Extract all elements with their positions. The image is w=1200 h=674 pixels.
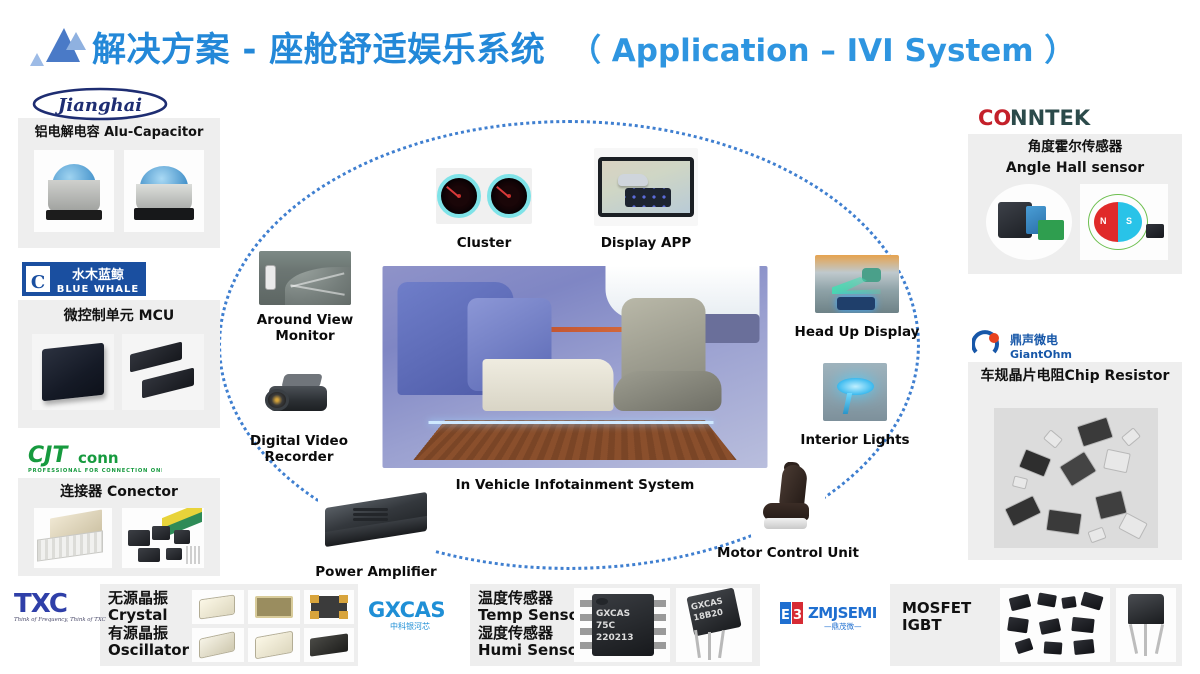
page-title-cn: 解决方案 - 座舱舒适娱乐系统 [92,22,545,71]
panel-conntek-title-en: Angle Hall sensor [968,160,1182,177]
zmsemi-logo: E 3 ZMJSEMI —鼎茂微— [780,598,896,632]
blue-whale-logo: C 水木蓝鲸 BLUE WHALE [22,262,146,296]
two-dark-ic-packages-thumb [122,334,204,410]
dashcam-device-image [258,370,340,424]
node-digital-video-recorder-label: Digital Video Recorder [239,434,359,465]
svg-text:水木蓝鲸: 水木蓝鲸 [72,267,124,283]
smd-crystal-1-thumb [192,590,244,624]
svg-text:—鼎茂微—: —鼎茂微— [824,621,862,631]
panel-jianghai-title: 铝电解电容 Alu-Capacitor [18,125,220,140]
svg-text:CJT: CJT [28,443,69,468]
gxcas-line-3: 湿度传感器 [478,625,579,642]
panel-cjt: 连接器 Conector [18,478,220,576]
panel-conntek: 角度霍尔传感器 Angle Hall sensor N S [968,134,1182,274]
gxcas-line-1: 温度传感器 [478,590,579,607]
zmsemi-lines: MOSFET IGBT [902,600,971,635]
interior-dome-light-image [823,363,887,421]
panel-giantohm-title: 车规晶片电阻Chip Resistor [968,368,1182,385]
slide-root: 解决方案 - 座舱舒适娱乐系统 （ Application – IVI Syst… [0,0,1200,674]
hall-sensor-motor-module-thumb [986,184,1072,260]
page-title-en: （ Application – IVI System ） [570,25,1075,70]
node-ivi-system[interactable]: In Vehicle Infotainment System [380,266,770,498]
svg-text:Think of Frequency, Think of T: Think of Frequency, Think of TXC [14,617,107,623]
jianghai-logo: Jianghai [30,86,170,122]
smd-oscillator-1-thumb [192,628,244,662]
around-view-line1: Around View [257,312,353,328]
panel-blue-whale: 微控制单元 MCU [18,300,220,428]
zmsemi-line-1: MOSFET [902,600,971,617]
gxcas-chip1-mark-1: GXCAS [596,608,652,620]
dvr-line1: Digital Video [250,433,348,449]
panel-gxcas: 温度传感器 Temp Senso 湿度传感器 Humi Senso GXCAS … [470,584,760,666]
panel-giantohm: 车规晶片电阻Chip Resistor [968,362,1182,560]
node-interior-lights[interactable]: Interior Lights [795,363,915,459]
node-display-app-label: Display APP [601,236,692,252]
svg-text:ZMJSEMI: ZMJSEMI [808,604,877,622]
svg-text:PROFESSIONAL FOR CONNECTION ON: PROFESSIONAL FOR CONNECTION ONLY [28,468,162,474]
zmsemi-line-2: IGBT [902,617,971,634]
around-view-camera-feed-image [259,251,351,305]
gxcas-chip1-mark-3: 220213 [596,632,652,644]
gxcas-line-2: Temp Senso [478,607,579,624]
scattered-smd-chip-resistors-thumb [994,408,1158,548]
node-ivi-system-label: In Vehicle Infotainment System [456,478,695,494]
svg-text:鼎声微电: 鼎声微电 [1010,332,1058,347]
ns-magnet-field-illustration-thumb: N S [1080,184,1168,260]
smd-crystal-4pad-thumb [304,590,354,624]
gxcas-lines: 温度传感器 Temp Senso 湿度传感器 Humi Senso [478,590,579,660]
cjt-logo: CJT conn PROFESSIONAL FOR CONNECTION ONL… [26,440,162,476]
gxcas-to92-chip-thumb[interactable]: GXCAS 18B20 [676,588,752,662]
txc-line-4: Oscillator [108,642,189,659]
node-display-app[interactable]: Display APP [588,148,704,260]
svg-text:conn: conn [78,449,119,467]
gxcas-chip1-mark-2: 75C [596,620,652,632]
panel-txc: 无源晶振 Crystal 有源晶振 Oscillator [100,584,358,666]
triangles-logo-icon [26,20,88,70]
txc-line-3: 有源晶振 [108,625,189,642]
node-cluster[interactable]: Cluster [430,168,538,264]
smd-oscillator-2-thumb [248,628,300,662]
svg-text:NNTEK: NNTEK [1010,106,1091,130]
svg-text:BLUE WHALE: BLUE WHALE [57,284,139,295]
svg-text:C: C [31,272,45,293]
svg-text:E: E [781,608,790,623]
center-display-tablet-image [594,148,698,226]
txc-logo: TXC Think of Frequency, Think of TXC [14,588,114,626]
svg-text:Jianghai: Jianghai [55,95,142,116]
panel-mcu-title: 微控制单元 MCU [18,308,220,325]
smd-alu-capacitor-angled-thumb [124,150,204,232]
smd-alu-capacitor-blue-top-thumb [34,150,114,232]
txc-line-2: Crystal [108,607,189,624]
giantohm-logo: 鼎声微电 GiantOhm [972,330,1104,362]
node-cluster-label: Cluster [457,236,511,252]
black-automotive-connectors-thumb [122,508,204,568]
beige-pin-header-connectors-thumb [34,508,112,568]
smd-oscillator-black-thumb [304,628,354,662]
node-head-up-display[interactable]: Head Up Display [792,255,922,351]
smd-crystal-2-thumb [248,590,300,624]
head-up-display-projection-image [815,255,899,313]
svg-text:TXC: TXC [14,589,67,619]
node-power-amplifier-label: Power Amplifier [315,565,436,581]
node-around-view-label: Around View Monitor [245,313,365,344]
smd-mosfet-array-thumb [1000,588,1110,662]
conntek-logo: CO NNTEK [978,104,1106,132]
panel-connector-title: 连接器 Conector [18,484,220,501]
qfp-mcu-package-thumb [32,334,114,410]
node-interior-lights-label: Interior Lights [800,433,909,449]
panel-jianghai: 铝电解电容 Alu-Capacitor [18,118,220,248]
panel-conntek-title-cn: 角度霍尔传感器 [968,140,1182,156]
node-digital-video-recorder[interactable]: Digital Video Recorder [242,370,356,468]
svg-text:CO: CO [978,106,1011,130]
dvr-line2: Recorder [265,449,334,465]
node-motor-control-unit-label: Motor Control Unit [717,546,859,562]
txc-line-1: 无源晶振 [108,590,189,607]
slide-header: 解决方案 - 座舱舒适娱乐系统 （ Application – IVI Syst… [0,0,1200,78]
node-head-up-display-label: Head Up Display [795,325,920,341]
around-view-line2: Monitor [275,328,334,344]
svg-text:中科银河芯: 中科银河芯 [390,621,430,631]
gxcas-line-4: Humi Senso [478,642,579,659]
gxcas-soic8-chip-thumb[interactable]: GXCAS 75C 220213 [574,588,670,662]
svg-text:GiantOhm: GiantOhm [1010,348,1072,361]
panel-zmsemi: MOSFET IGBT [890,584,1182,666]
svg-text:3: 3 [793,608,802,623]
node-around-view[interactable]: Around View Monitor [249,251,361,341]
cabin-interior-photo-image [383,266,768,468]
svg-text:GXCAS: GXCAS [368,598,445,622]
txc-lines: 无源晶振 Crystal 有源晶振 Oscillator [108,590,189,660]
to-220-package-thumb [1116,588,1176,662]
instrument-cluster-gauges-image [436,168,532,224]
node-power-amplifier[interactable]: Power Amplifier [312,485,440,591]
gxcas-logo: GXCAS 中科银河芯 [368,596,476,634]
